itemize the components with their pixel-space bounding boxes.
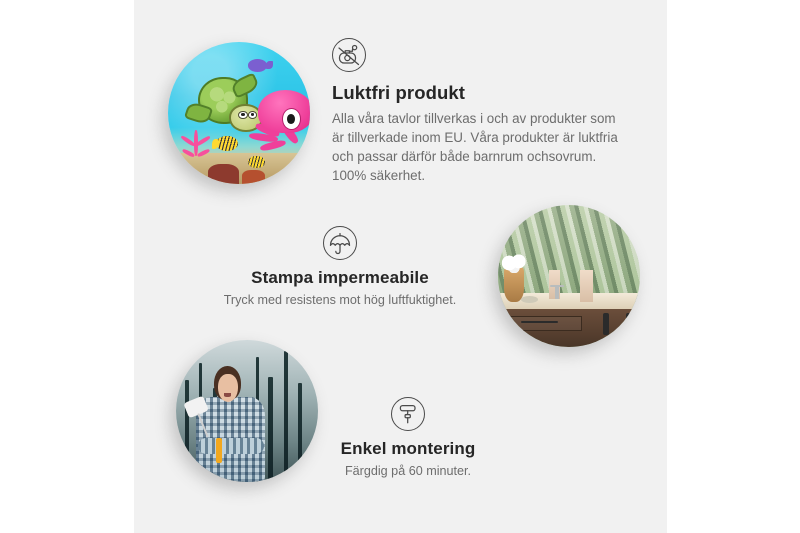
vanity-cabinet — [498, 309, 640, 347]
seabed-rock — [242, 170, 265, 184]
feature-odourless-description: Alla våra tavlor tillverkas i och av pro… — [332, 109, 628, 185]
feature-easy-mounting-title: Enkel montering — [306, 438, 510, 460]
no-fragrance-spray-icon — [332, 38, 366, 72]
turtle-icon — [186, 73, 260, 133]
product-photo-aquarium — [168, 42, 310, 184]
umbrella-icon — [323, 226, 357, 260]
soap-dish — [521, 296, 538, 303]
feature-odourless-title: Luktfri produkt — [332, 81, 628, 105]
feature-odourless-icon-wrap — [332, 38, 628, 72]
fish-icon — [216, 136, 237, 152]
fish-icon — [248, 156, 265, 169]
coral-icon — [177, 130, 220, 173]
paint-roller-icon — [391, 397, 425, 431]
feature-waterproof-icon-wrap — [196, 226, 484, 260]
feature-waterproof-title: Stampa impermeabile — [196, 267, 484, 289]
octopus-icon — [253, 90, 310, 158]
aquarium-scene — [168, 42, 310, 184]
fish-icon — [248, 59, 268, 72]
feature-easy-mounting-icon-wrap — [306, 397, 510, 431]
product-feature-graphic: Luktfri produkt Alla våra tavlor tillver… — [0, 0, 800, 533]
faucet-icon — [555, 285, 559, 299]
towel — [580, 270, 593, 301]
feature-easy-mounting-description: Färgdig på 60 minuter. — [306, 463, 510, 480]
feature-waterproof-description: Tryck med resistens mot hög luftfuktighe… — [196, 292, 484, 309]
feature-waterproof: Stampa impermeabile Tryck med resistens … — [196, 226, 484, 309]
brush-icon — [216, 438, 222, 464]
product-photo-painter — [176, 340, 318, 482]
product-photo-bathroom — [498, 205, 640, 347]
feature-odourless: Luktfri produkt Alla våra tavlor tillver… — [332, 38, 628, 185]
bathroom-scene — [498, 205, 640, 347]
painter-scene — [176, 340, 318, 482]
flowers-icon — [499, 253, 527, 273]
woman-with-roller — [193, 366, 275, 482]
feature-easy-mounting: Enkel montering Färgdig på 60 minuter. — [306, 397, 510, 480]
